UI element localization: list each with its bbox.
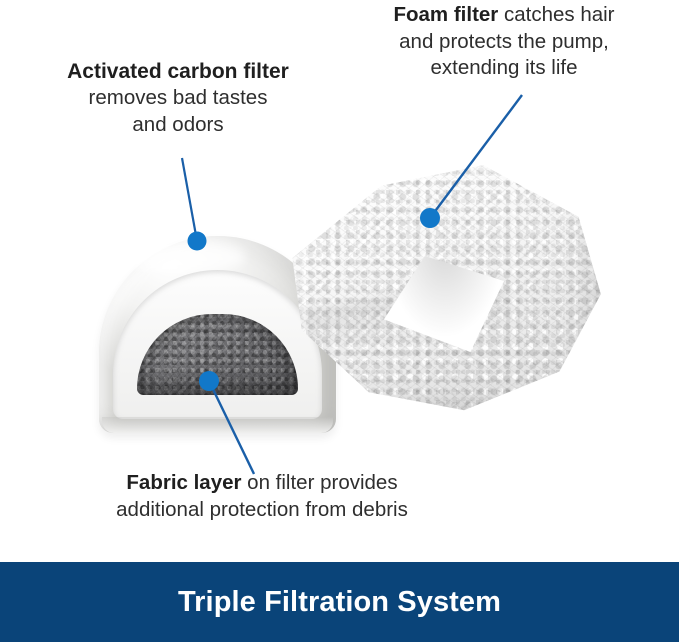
callout-carbon-line-3: and odors <box>22 112 334 139</box>
callout-fabric-line-2: additional protection from debris <box>52 497 472 524</box>
callout-foam-line-3: extending its life <box>352 55 656 82</box>
callout-foam-line-2: and protects the pump, <box>352 29 656 56</box>
callout-text-fabric-layer: Fabric layer on filter provides addition… <box>52 470 472 523</box>
callout-text-foam-filter: Foam filter catches hair and protects th… <box>352 2 656 82</box>
callout-foam-rest: catches hair <box>498 3 614 26</box>
bottom-banner: Triple Filtration System <box>0 562 679 642</box>
banner-title: Triple Filtration System <box>178 586 501 619</box>
carbon-filter-highlight <box>125 242 245 272</box>
callout-foam-line-1: Foam filter catches hair <box>352 2 656 29</box>
callout-fabric-rest: on filter provides <box>241 471 397 494</box>
callout-fabric-line-1: Fabric layer on filter provides <box>52 470 472 497</box>
callout-text-carbon-filter: Activated carbon filter removes bad tast… <box>22 58 334 139</box>
callout-carbon-bold: Activated carbon filter <box>67 60 289 83</box>
callout-foam-bold: Foam filter <box>393 3 498 26</box>
carbon-filter-media <box>137 314 298 395</box>
callout-carbon-line-1: Activated carbon filter <box>22 58 334 85</box>
callout-fabric-bold: Fabric layer <box>126 471 241 494</box>
infographic-canvas: Activated carbon filter removes bad tast… <box>0 0 679 642</box>
leader-line-carbon <box>182 158 197 241</box>
callout-carbon-line-2: removes bad tastes <box>22 85 334 112</box>
foam-filter-photo <box>286 160 604 418</box>
